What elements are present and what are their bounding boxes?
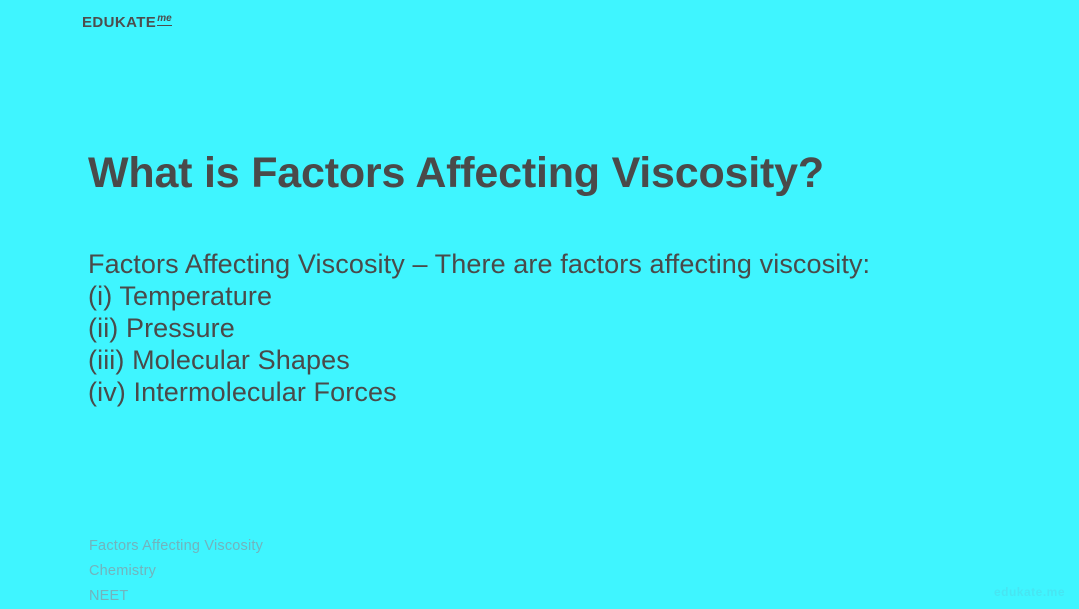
body-line-item-3: (iii) Molecular Shapes <box>88 344 1028 376</box>
brand-logo: EDUKATEme <box>82 15 172 30</box>
body-line-item-2: (ii) Pressure <box>88 312 1028 344</box>
footer-subject: Chemistry <box>89 559 589 584</box>
footer-topic: Factors Affecting Viscosity <box>89 534 589 559</box>
brand-logo-word: EDUKATE <box>82 15 156 30</box>
brand-logo-superscript: me <box>157 14 171 26</box>
body-line-intro: Factors Affecting Viscosity – There are … <box>88 248 1028 280</box>
footer-exam: NEET <box>89 584 589 609</box>
slide-canvas: EDUKATEme What is Factors Affecting Visc… <box>0 0 1079 607</box>
slide-footer: Factors Affecting Viscosity Chemistry NE… <box>89 534 589 609</box>
watermark-text: edukate.me <box>994 585 1065 599</box>
body-line-item-4: (iv) Intermolecular Forces <box>88 376 1028 408</box>
body-line-item-1: (i) Temperature <box>88 280 1028 312</box>
slide-body: Factors Affecting Viscosity – There are … <box>88 248 1028 408</box>
slide-title: What is Factors Affecting Viscosity? <box>88 150 1018 197</box>
